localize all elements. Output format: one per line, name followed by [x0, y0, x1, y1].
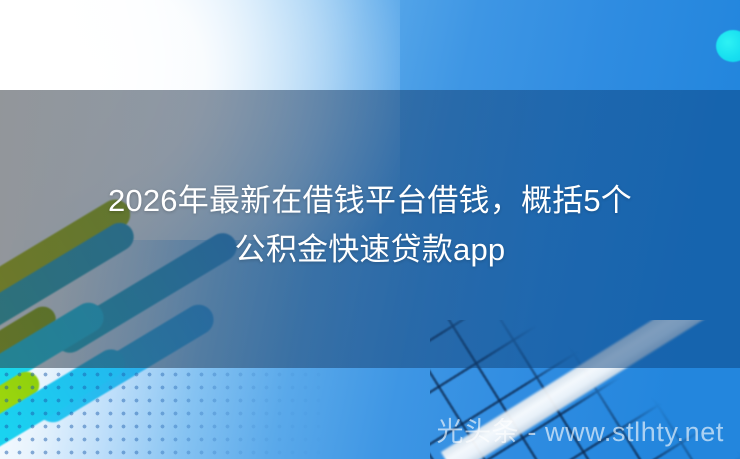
- headline-line-1: 2026年最新在借钱平台借钱，概括5个: [14, 176, 726, 225]
- halftone-dot-pattern: [0, 368, 330, 459]
- cover-image: 2026年最新在借钱平台借钱，概括5个 公积金快速贷款app 光头条 - www…: [0, 0, 740, 459]
- headline-title: 2026年最新在借钱平台借钱，概括5个 公积金快速贷款app: [0, 176, 740, 274]
- site-watermark: 光头条 - www.stlhty.net: [436, 415, 724, 449]
- headline-line-2: 公积金快速贷款app: [14, 225, 726, 274]
